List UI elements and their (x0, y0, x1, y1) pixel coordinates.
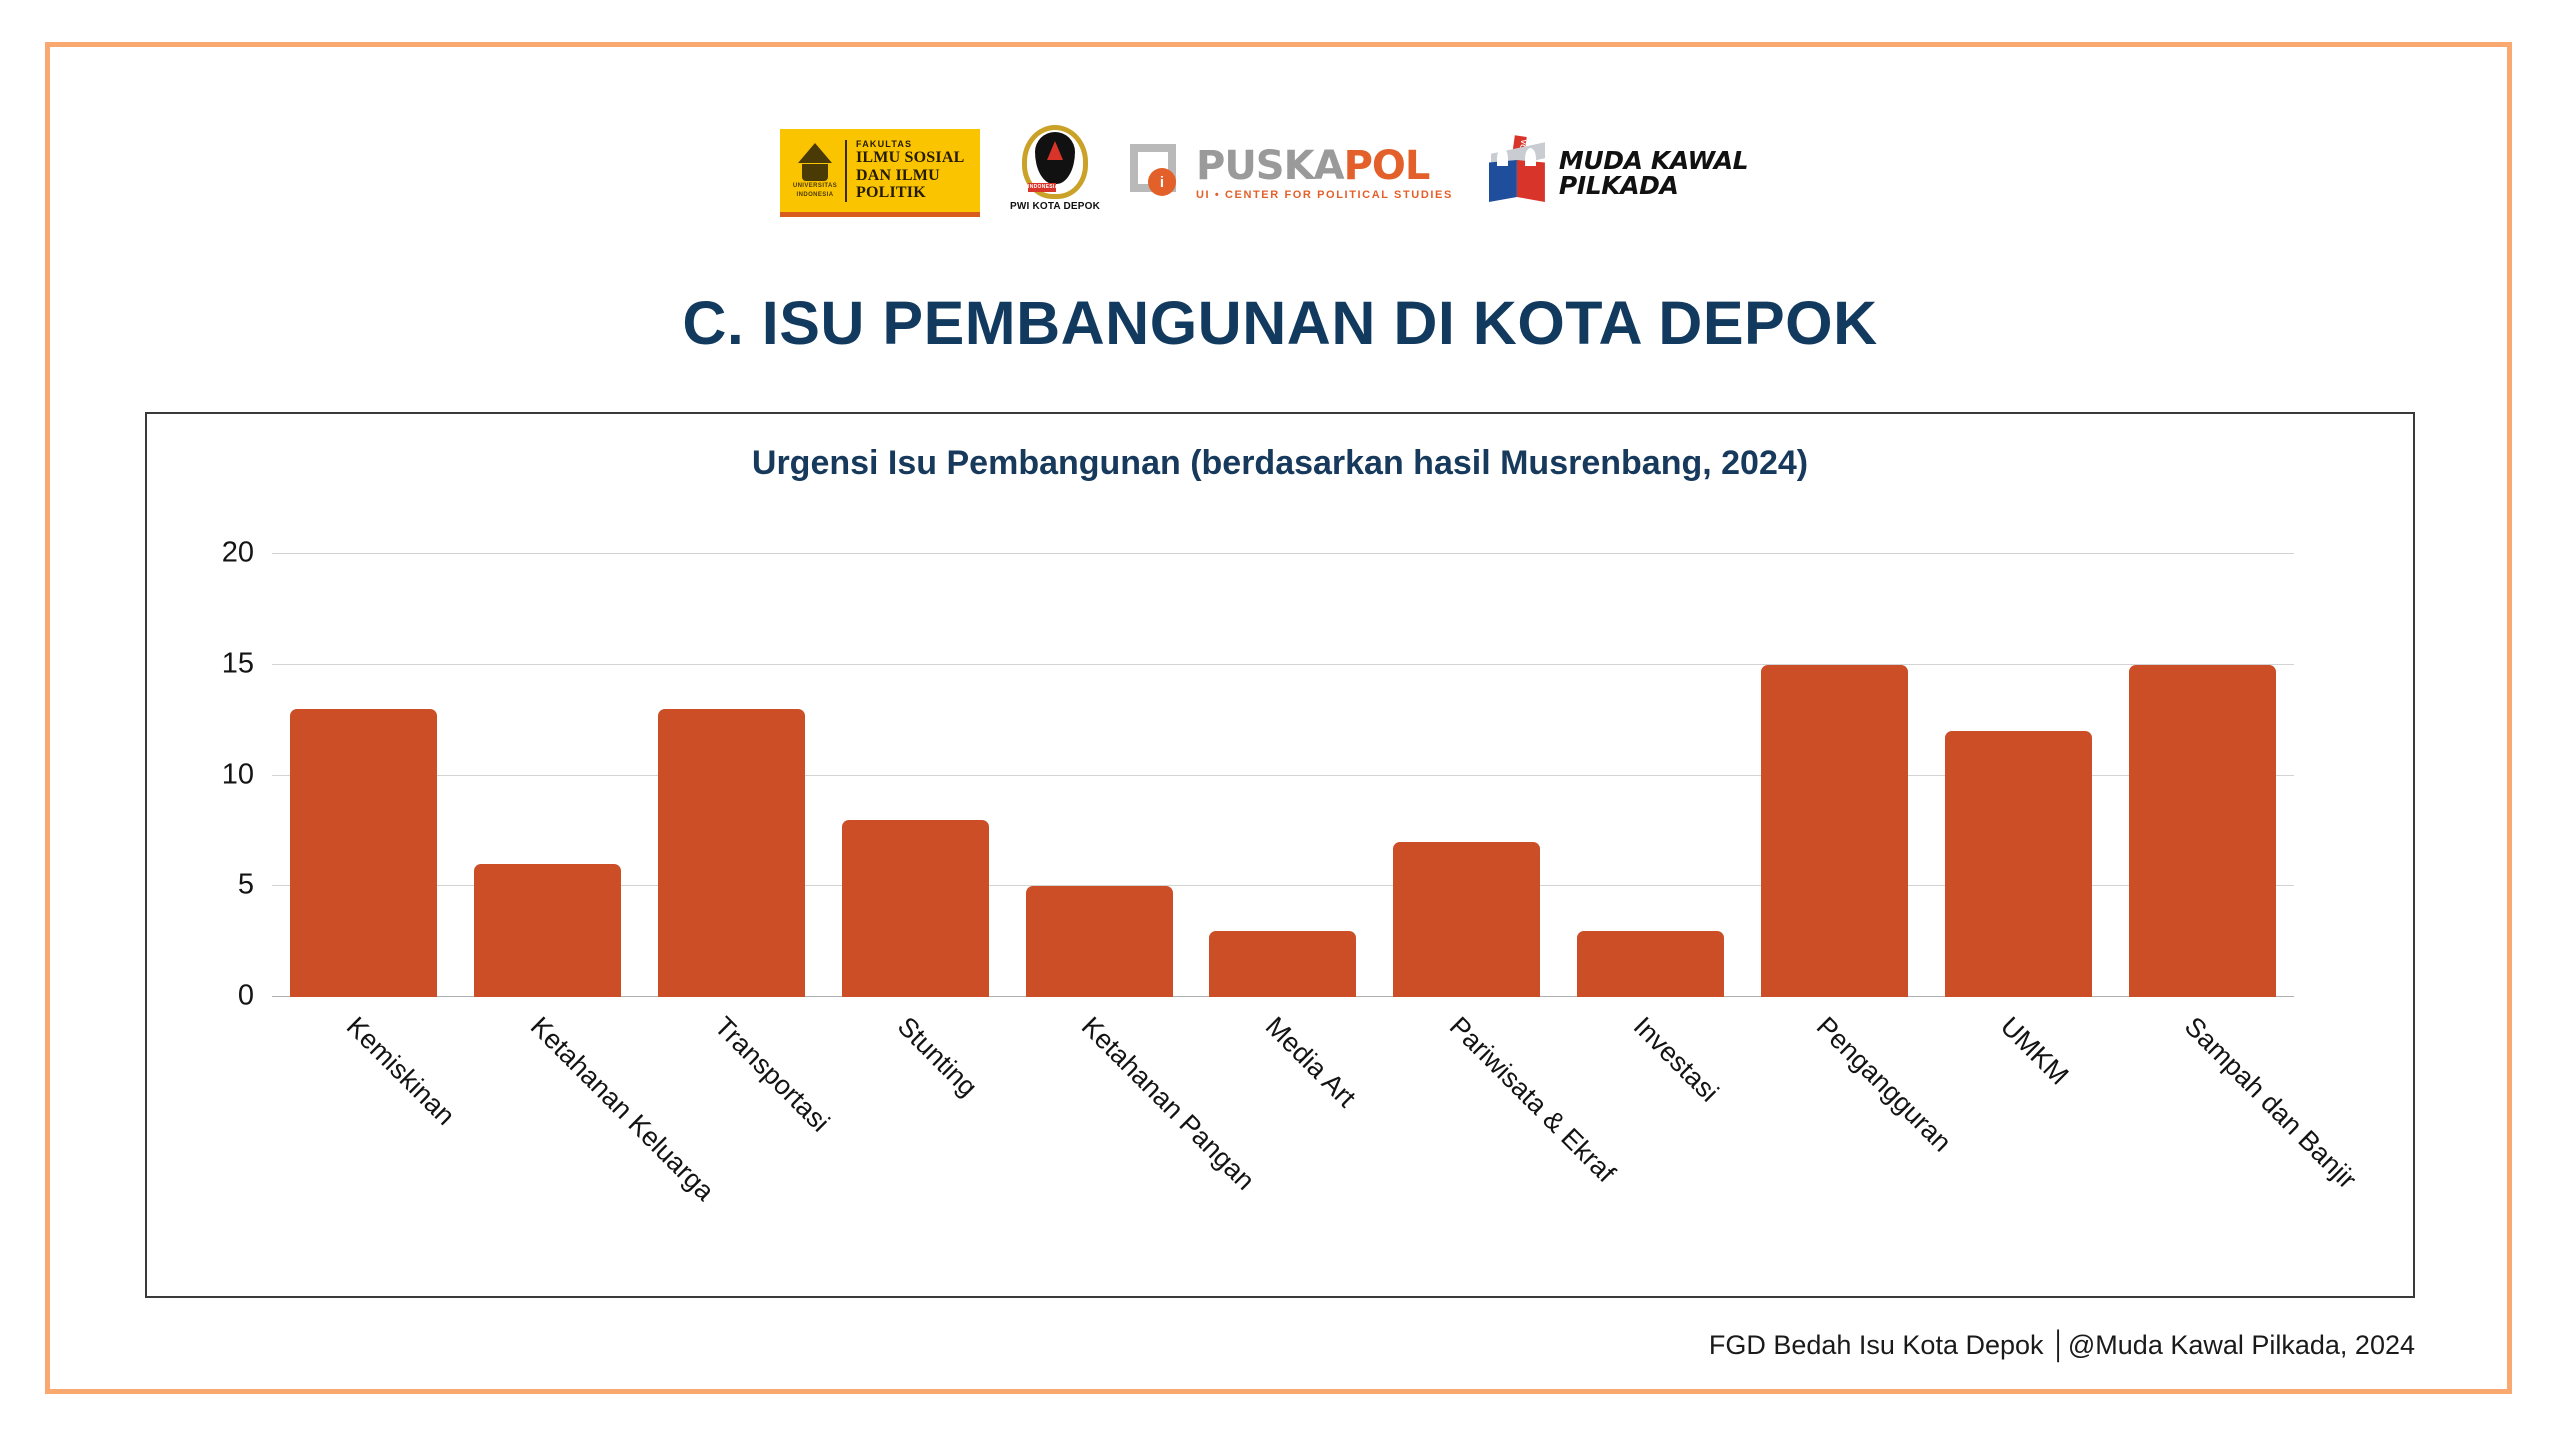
bar-stunting[interactable] (842, 820, 989, 997)
ballot-box-icon: VOTE (1487, 136, 1549, 210)
x-axis-labels: KemiskinanKetahanan KeluargaTransportasi… (272, 997, 2294, 1247)
ui-seal-label-1: UNIVERSITAS (793, 183, 837, 190)
x-label-slot: Transportasi (640, 997, 824, 1247)
y-tick-label-20: 20 (222, 537, 254, 570)
y-tick-label-0: 0 (238, 980, 254, 1013)
bar-sampah-dan-banjir[interactable] (2129, 665, 2276, 997)
mkp-wordmark: MUDA KAWAL PILKADA (1559, 148, 1748, 199)
bar-slot (1191, 554, 1375, 997)
pwi-kota-depok-logo: INDONESIA PWI KOTA DEPOK (1014, 125, 1096, 221)
x-label-slot: Ketahanan Pangan (1007, 997, 1191, 1247)
bar-media-art[interactable] (1209, 931, 1356, 997)
ui-fisip-logo: UNIVERSITAS INDONESIA FAKULTAS ILMU SOSI… (780, 129, 980, 217)
logo-strip: UNIVERSITAS INDONESIA FAKULTAS ILMU SOSI… (780, 118, 1780, 228)
puskapol-word-1: PUS (1196, 143, 1284, 189)
bar-ketahanan-pangan[interactable] (1026, 886, 1173, 997)
fisip-line-1: ILMU SOSIAL (856, 149, 964, 166)
x-label-slot: Ketahanan Keluarga (456, 997, 640, 1247)
x-label-slot: Pariwisata & Ekraf (1375, 997, 1559, 1247)
page-title: C. ISU PEMBANGUNAN DI KOTA DEPOK (0, 288, 2560, 358)
bar-kemiskinan[interactable] (290, 709, 437, 997)
x-axis-label: Investasi (1627, 1011, 1724, 1108)
pwi-caption: PWI KOTA DEPOK (1010, 201, 1100, 212)
bar-umkm[interactable] (1945, 731, 2092, 997)
fisip-line-2: DAN ILMU (856, 167, 964, 184)
puskapol-logo: i PUSKAPOL UI • CENTER FOR POLITICAL STU… (1130, 133, 1453, 213)
bar-slot (456, 554, 640, 997)
bar-transportasi[interactable] (658, 709, 805, 997)
puskapol-wordmark: PUSKAPOL UI • CENTER FOR POLITICAL STUDI… (1196, 146, 1453, 201)
fisip-wordmark: FAKULTAS ILMU SOSIAL DAN ILMU POLITIK (856, 140, 964, 202)
bar-slot (1743, 554, 1927, 997)
x-label-slot: Sampah dan Banjir (2110, 997, 2294, 1247)
bar-pengangguran[interactable] (1761, 665, 1908, 997)
x-axis-label: UMKM (1994, 1011, 2074, 1091)
x-axis-label: Kemiskinan (340, 1011, 461, 1132)
x-axis-label: Sampah dan Banjir (2178, 1011, 2362, 1195)
pwi-crest-icon: INDONESIA (1022, 125, 1088, 199)
x-axis-label: Media Art (1259, 1011, 1362, 1114)
bar-slot (1926, 554, 2110, 997)
fisip-faculty-label: FAKULTAS (856, 140, 964, 150)
bar-ketahanan-keluarga[interactable] (474, 864, 621, 997)
bar-slot (272, 554, 456, 997)
puskapol-word-3: POL (1344, 143, 1430, 189)
bar-series (272, 554, 2294, 997)
bar-slot (823, 554, 1007, 997)
mkp-line-1: MUDA KAWAL (1559, 148, 1748, 174)
slide-canvas: UNIVERSITAS INDONESIA FAKULTAS ILMU SOSI… (0, 0, 2560, 1440)
x-label-slot: Investasi (1559, 997, 1743, 1247)
bar-slot (1375, 554, 1559, 997)
universitas-indonesia-makara-icon: UNIVERSITAS INDONESIA (789, 136, 841, 206)
x-label-slot: Pengangguran (1743, 997, 1927, 1247)
bar-slot (640, 554, 824, 997)
muda-kawal-pilkada-logo: VOTE MUDA KAWAL PILKADA (1487, 131, 1748, 215)
x-label-slot: UMKM (1926, 997, 2110, 1247)
x-label-slot: Media Art (1191, 997, 1375, 1247)
pwi-band-label: INDONESIA (1028, 183, 1056, 192)
puskapol-mark-icon: i (1130, 144, 1186, 202)
fisip-line-3: POLITIK (856, 184, 964, 201)
x-label-slot: Stunting (823, 997, 1007, 1247)
ui-seal-label-2: INDONESIA (797, 192, 834, 199)
x-axis-label: Stunting (891, 1011, 983, 1103)
bar-investasi[interactable] (1577, 931, 1724, 997)
mkp-line-2: PILKADA (1559, 173, 1748, 199)
puskapol-tagline: UI • CENTER FOR POLITICAL STUDIES (1196, 190, 1453, 201)
bar-pariwisata-ekraf[interactable] (1393, 842, 1540, 997)
x-label-slot: Kemiskinan (272, 997, 456, 1247)
slide-footer: FGD Bedah Isu Kota Depok │@Muda Kawal Pi… (1709, 1330, 2415, 1361)
y-tick-label-15: 15 (222, 647, 254, 680)
chart-title: Urgensi Isu Pembangunan (berdasarkan has… (147, 444, 2413, 483)
y-tick-label-10: 10 (222, 758, 254, 791)
fisip-divider (845, 140, 847, 202)
chart-container: Urgensi Isu Pembangunan (berdasarkan has… (145, 412, 2415, 1298)
x-axis-label: Transportasi (708, 1011, 835, 1138)
y-tick-label-5: 5 (238, 869, 254, 902)
bar-slot (2110, 554, 2294, 997)
puskapol-mark-letter: i (1148, 168, 1176, 196)
bar-slot (1007, 554, 1191, 997)
puskapol-word-2: KA (1284, 143, 1344, 189)
plot-area: 20151050 (272, 554, 2294, 997)
bar-slot (1559, 554, 1743, 997)
